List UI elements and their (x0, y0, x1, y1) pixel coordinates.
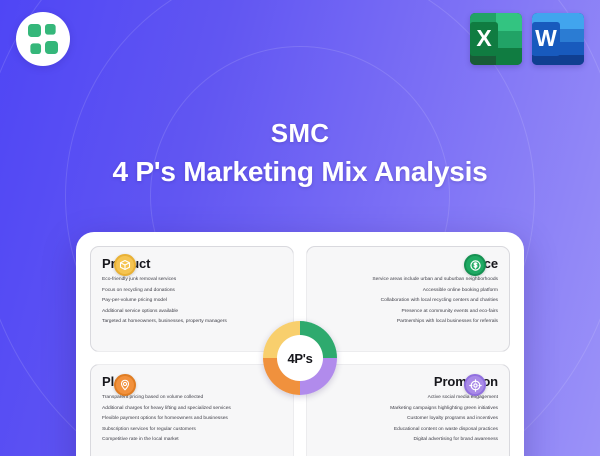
list-item: Collaboration with local recycling cente… (318, 299, 498, 304)
list-item: Digital advertising for brand awareness (318, 438, 498, 443)
title-heading: 4 P's Marketing Mix Analysis (0, 156, 600, 188)
package-icon (114, 254, 136, 276)
grid-logo-icon (28, 24, 58, 54)
list-item: Additional charges for heavy lifting and… (102, 407, 282, 412)
quadrant-list-place: Transparent pricing based on volume coll… (102, 396, 282, 443)
analysis-card: Product Eco-friendly junk removal servic… (76, 232, 524, 456)
quadrant-grid: Product Eco-friendly junk removal servic… (90, 246, 510, 456)
excel-icon[interactable]: X (470, 13, 522, 65)
list-item: Marketing campaigns highlighting green i… (318, 407, 498, 412)
list-item: Eco-friendly junk removal services (102, 278, 282, 283)
app-logo[interactable] (16, 12, 70, 66)
location-pin-icon (114, 374, 136, 396)
quadrant-list-price: Service areas include urban and suburban… (318, 278, 498, 325)
list-item: Subscription services for regular custom… (102, 428, 282, 433)
excel-icon-letter: X (470, 22, 498, 55)
list-item: Educational content on waste disposal pr… (318, 428, 498, 433)
company-name: SMC (0, 118, 600, 149)
list-item: Competitive rate in the local market (102, 438, 282, 443)
list-item: Transparent pricing based on volume coll… (102, 396, 282, 401)
word-icon[interactable]: W (532, 13, 584, 65)
top-bar: X W (0, 0, 600, 78)
donut-ring: 4P's (263, 321, 337, 395)
quadrant-list-product: Eco-friendly junk removal services Focus… (102, 278, 282, 325)
donut-chart: 4P's (263, 321, 337, 395)
dollar-coin-icon (464, 254, 486, 276)
list-item: Presence at community events and eco-fai… (318, 310, 498, 315)
office-icons: X W (470, 13, 584, 65)
word-icon-letter: W (532, 22, 560, 55)
quadrant-list-promotion: Active social media engagement Marketing… (318, 396, 498, 443)
list-item: Customer loyalty programs and incentives (318, 417, 498, 422)
list-item: Targeted at homeowners, businesses, prop… (102, 320, 282, 325)
list-item: Accessible online booking platform (318, 289, 498, 294)
list-item: Service areas include urban and suburban… (318, 278, 498, 283)
target-icon (464, 374, 486, 396)
donut-center-label: 4P's (277, 335, 323, 381)
list-item: Pay-per-volume pricing model (102, 299, 282, 304)
list-item: Partnerships with local businesses for r… (318, 320, 498, 325)
list-item: Focus on recycling and donations (102, 289, 282, 294)
list-item: Additional service options available (102, 310, 282, 315)
list-item: Flexible payment options for homeowners … (102, 417, 282, 422)
page-title: SMC 4 P's Marketing Mix Analysis (0, 118, 600, 188)
list-item: Active social media engagement (318, 396, 498, 401)
